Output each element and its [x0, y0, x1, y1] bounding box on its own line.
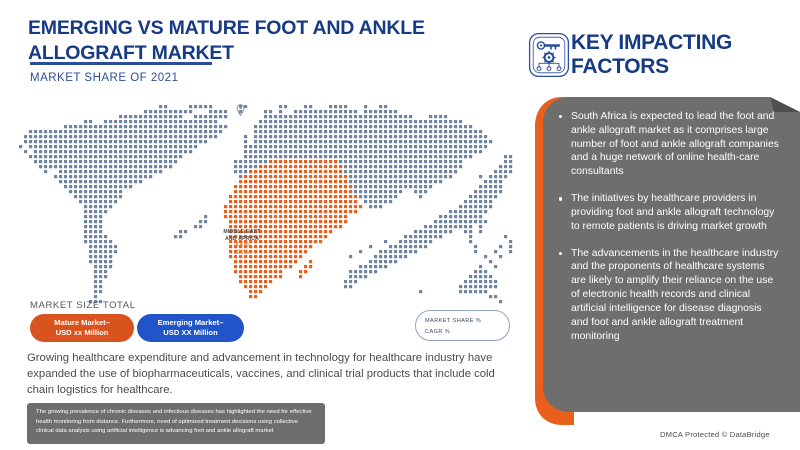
map-region-callout: MIDDLE EAST AND AFRICA XX% XX%	[214, 229, 270, 257]
key-factor-bullet: The initiatives by healthcare providers …	[556, 192, 780, 233]
legend-emerging-line2: USD XX Million	[163, 328, 217, 338]
legend-emerging-market: Emerging Market– USD XX Million	[137, 314, 244, 342]
market-share-cagr-key: MARKET SHARE % CAGR %	[415, 310, 510, 341]
page-subtitle: MARKET SHARE OF 2021	[30, 72, 350, 84]
cagr-key-label: CAGR %	[425, 327, 509, 338]
region-market-share-value: XX%	[214, 242, 270, 250]
legend-mature-line2: USD xx Million	[56, 328, 109, 338]
key-impacting-factors-title: KEY IMPACTING FACTORS	[571, 31, 796, 78]
key-factor-bullet: The advancements in the healthcare indus…	[556, 247, 780, 344]
region-cagr-value: XX%	[214, 250, 270, 258]
note-box: The growing prevalence of chronic diseas…	[27, 403, 325, 444]
key-gear-network-icon	[528, 32, 570, 83]
location-pin-icon	[236, 103, 245, 121]
body-paragraph: Growing healthcare expenditure and advan…	[27, 350, 497, 398]
infographic-canvas: EMERGING VS MATURE FOOT AND ANKLE ALLOGR…	[0, 0, 800, 450]
world-map-dots	[14, 100, 514, 305]
page-title: EMERGING VS MATURE FOOT AND ANKLE ALLOGR…	[28, 16, 498, 65]
key-factors-bullet-list: South Africa is expected to lead the foo…	[556, 110, 780, 412]
legend-mature-market: Mature Market– USD xx Million	[30, 314, 134, 342]
key-factor-bullet: South Africa is expected to lead the foo…	[556, 110, 780, 179]
market-share-key-label: MARKET SHARE %	[425, 316, 509, 327]
market-size-total-label: MARKET SIZE TOTAL	[30, 300, 136, 311]
legend-mature-line1: Mature Market–	[54, 318, 110, 328]
key-impacting-factors-panel: South Africa is expected to lead the foo…	[534, 96, 800, 426]
legend-emerging-line1: Emerging Market–	[158, 318, 224, 328]
dotted-world-map	[14, 100, 514, 305]
title-underline-rule	[30, 62, 212, 65]
dmca-credit: DMCA Protected © DataBridge	[660, 430, 770, 439]
